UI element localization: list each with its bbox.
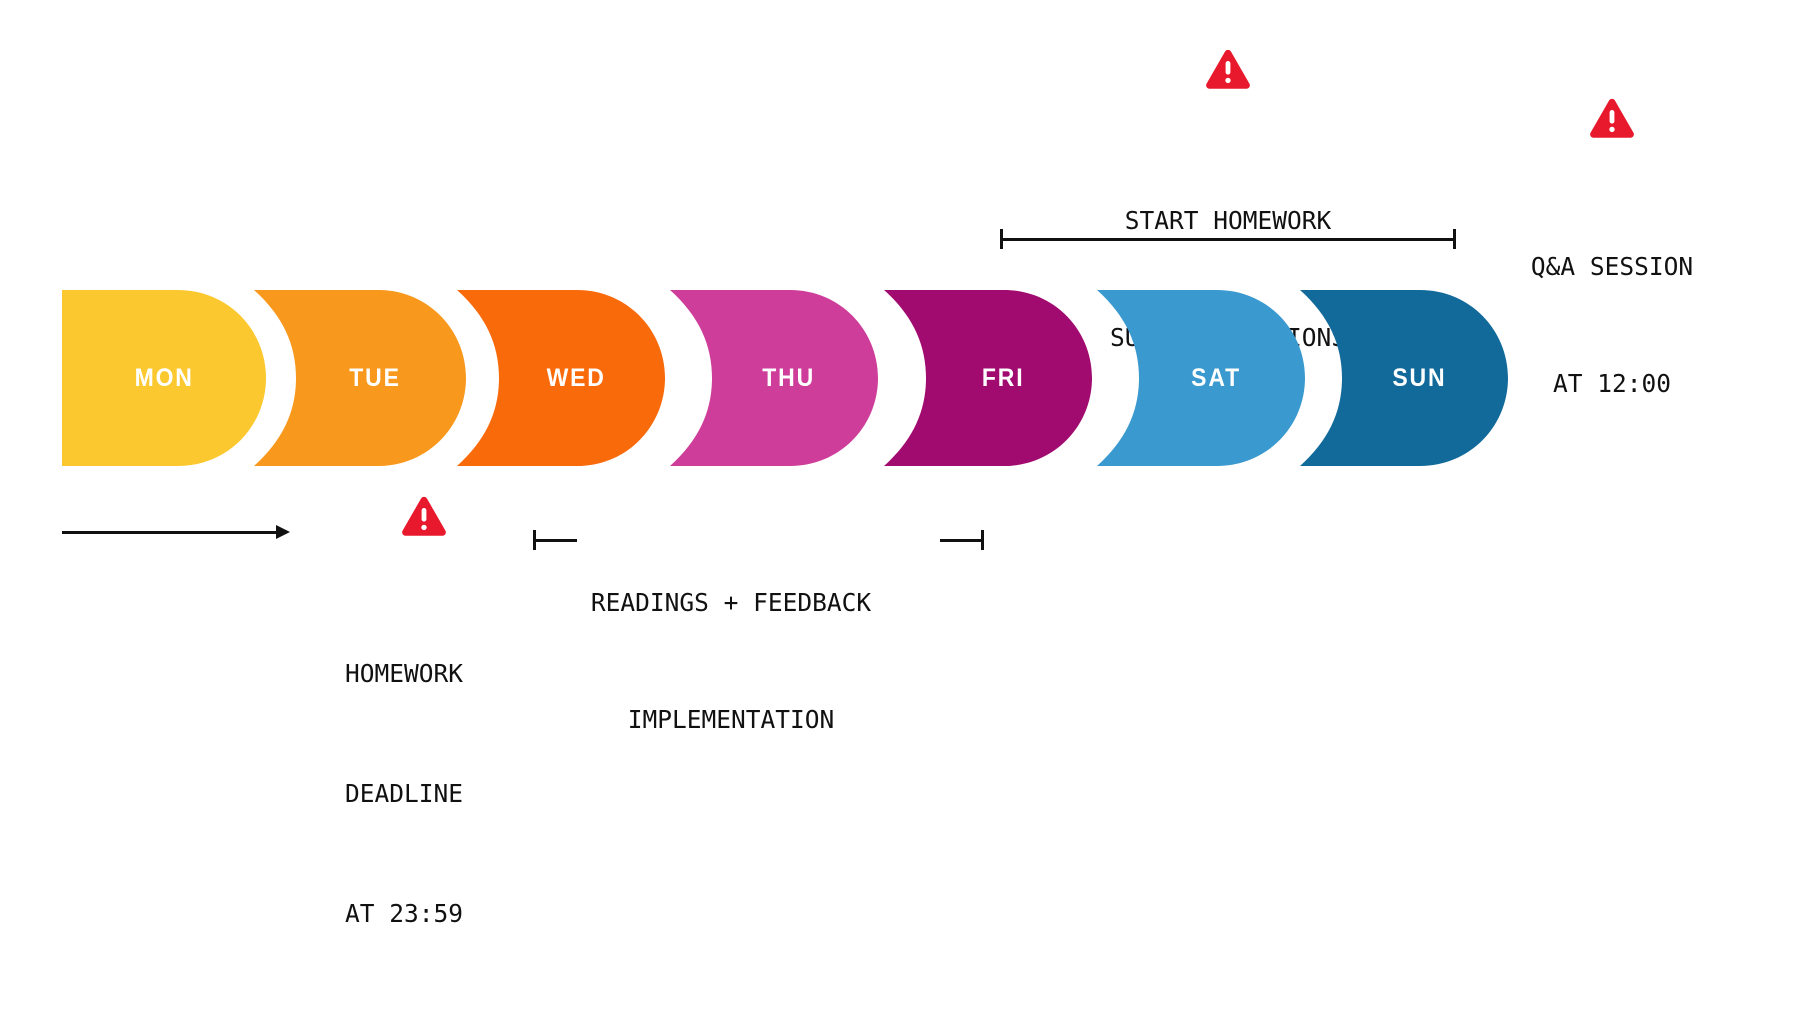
day-label-thu: THU [763,364,816,393]
day-segment-thu[interactable]: THU [670,290,878,466]
day-segment-sat[interactable]: SAT [1097,290,1305,466]
span-line-wednesday-thursday-left [533,530,577,550]
warning-triangle-icon [1205,48,1251,90]
day-segment-tue[interactable]: TUE [254,290,466,466]
arrow-head [276,525,290,539]
readings-line-2: IMPLEMENTATION [481,700,981,739]
annotation-readings-feedback-text: READINGS + FEEDBACK IMPLEMENTATION [481,505,981,817]
day-label-sun: SUN [1392,364,1446,393]
day-label-mon: MON [134,364,193,393]
day-label-fri: FRI [982,364,1025,393]
day-segment-wed[interactable]: WED [457,290,665,466]
span-line-friday-saturday [1000,229,1456,249]
span-rule [940,539,984,542]
arrow-right-icon [62,524,290,540]
span-line-wednesday-thursday-right [940,530,984,550]
span-cap-right [981,530,984,550]
span-rule [533,539,577,542]
day-label-tue: TUE [349,364,401,393]
day-segment-fri[interactable]: FRI [884,290,1092,466]
day-segment-mon[interactable]: MON [62,290,266,466]
warning-triangle-icon [1589,97,1635,139]
span-rule [1000,238,1456,241]
warning-triangle-icon [401,495,447,537]
arrow-shaft [62,531,278,534]
readings-line-1: READINGS + FEEDBACK [481,583,981,622]
day-segment-sun[interactable]: SUN [1300,290,1508,466]
deadline-line-3: AT 23:59 [345,894,665,934]
qa-line-1: Q&A SESSION [1412,247,1804,286]
diagram-canvas: START HOMEWORK SUBMIT QUESTIONS Q&A SESS… [0,0,1804,794]
day-label-sat: SAT [1191,364,1241,393]
day-label-wed: WED [546,364,605,393]
